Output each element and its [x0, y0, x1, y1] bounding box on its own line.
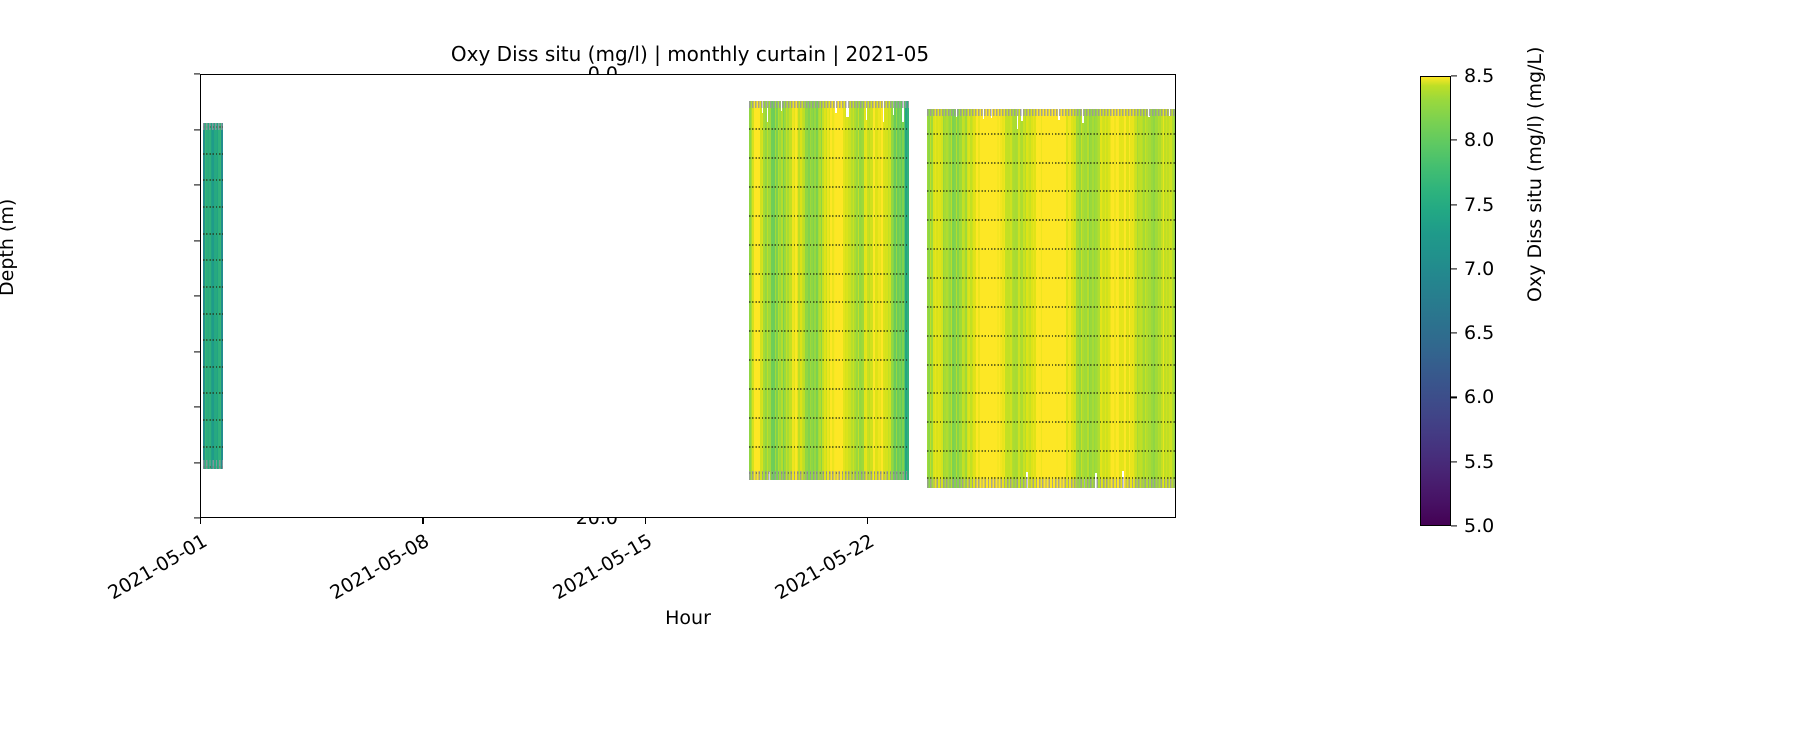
colorbar-tick-label: 8.0 — [1464, 129, 1494, 151]
profile-column — [221, 123, 223, 469]
colorbar-label: Oxy Diss situ (mg/l) (mg/L) — [1524, 47, 1546, 302]
sensor-trace — [927, 450, 1175, 452]
sensor-trace — [203, 313, 223, 315]
colorbar-tick-label: 6.0 — [1464, 386, 1494, 408]
colorbar-tick-label: 5.0 — [1464, 515, 1494, 537]
colorbar-tick-mark — [1451, 461, 1457, 462]
sensor-trace — [927, 421, 1175, 423]
x-tick-mark — [422, 518, 423, 524]
colorbar-tick-label: 8.5 — [1464, 65, 1494, 87]
sensor-trace — [749, 359, 909, 361]
colorbar-tick-label: 5.5 — [1464, 451, 1494, 473]
data-block — [927, 109, 1175, 488]
sensor-trace — [927, 364, 1175, 366]
colorbar — [1420, 76, 1451, 526]
colorbar-tick-label: 7.5 — [1464, 194, 1494, 216]
sensor-trace — [749, 244, 909, 246]
matplotlib-figure: Oxy Diss situ (mg/l) | monthly curtain |… — [0, 0, 1800, 750]
sensor-trace — [203, 259, 223, 261]
sensor-trace — [749, 388, 909, 390]
x-tick-mark — [200, 518, 201, 524]
sensor-trace — [749, 301, 909, 303]
sensor-trace — [927, 277, 1175, 279]
sensor-trace — [203, 339, 223, 341]
sensor-trace — [749, 128, 909, 130]
sensor-trace — [927, 219, 1175, 221]
sensor-trace — [203, 446, 223, 448]
sensor-trace — [749, 273, 909, 275]
sensor-trace — [203, 153, 223, 155]
bottom-noise-band — [927, 479, 1175, 488]
data-layer — [201, 75, 1175, 517]
colorbar-tick-mark — [1451, 268, 1457, 269]
sensor-trace — [749, 215, 909, 217]
sensor-trace — [749, 186, 909, 188]
colorbar-tick-mark — [1451, 204, 1457, 205]
sensor-trace — [927, 190, 1175, 192]
colorbar-tick-mark — [1451, 75, 1457, 76]
x-axis-label: Hour — [200, 607, 1176, 629]
colorbar-tick-label: 6.5 — [1464, 322, 1494, 344]
sensor-trace — [749, 330, 909, 332]
sensor-trace — [203, 392, 223, 394]
bottom-noise-band — [749, 471, 909, 480]
sensor-trace — [749, 446, 909, 448]
x-tick-mark — [645, 518, 646, 524]
sensor-trace — [203, 179, 223, 181]
surface-noise-band — [927, 109, 1175, 116]
sensor-trace — [203, 419, 223, 421]
y-axis-label: Depth (m) — [0, 199, 18, 296]
sensor-trace — [203, 233, 223, 235]
sensor-trace — [927, 133, 1175, 135]
plot-area — [200, 74, 1176, 518]
bottom-noise-band — [203, 460, 223, 469]
surface-noise-band — [749, 101, 909, 108]
sensor-trace — [927, 162, 1175, 164]
sensor-trace — [927, 248, 1175, 250]
x-tick-mark — [867, 518, 868, 524]
x-tick-label: 2021-05-01 — [61, 530, 211, 629]
sensor-trace — [927, 392, 1175, 394]
colorbar-tick-mark — [1451, 525, 1457, 526]
colorbar-tick-mark — [1451, 333, 1457, 334]
chart-title: Oxy Diss situ (mg/l) | monthly curtain |… — [200, 42, 1180, 66]
sensor-trace — [203, 286, 223, 288]
data-block — [749, 101, 909, 481]
sensor-trace — [203, 366, 223, 368]
sensor-trace — [749, 157, 909, 159]
sensor-trace — [203, 206, 223, 208]
surface-noise-band — [203, 123, 223, 130]
colorbar-tick-mark — [1451, 140, 1457, 141]
colorbar-tick-mark — [1451, 397, 1457, 398]
sensor-trace — [927, 335, 1175, 337]
sensor-trace — [749, 417, 909, 419]
sensor-trace — [927, 306, 1175, 308]
data-block — [203, 123, 223, 469]
colorbar-tick-label: 7.0 — [1464, 258, 1494, 280]
